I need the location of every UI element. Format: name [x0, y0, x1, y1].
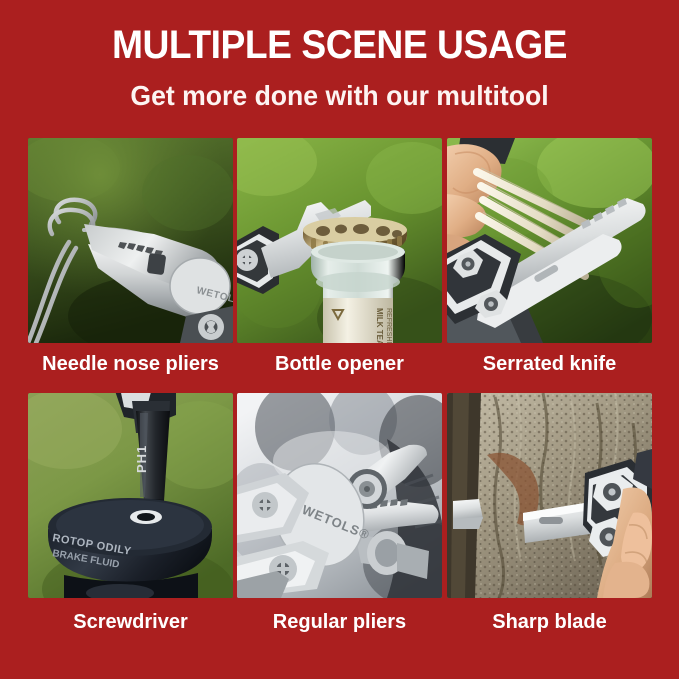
svg-text:MILK TEA: MILK TEA [375, 308, 384, 343]
feature-tile-bottle-opener: MILK TEA REFRESHING Bottle opener [237, 138, 442, 376]
tile-caption: Bottle opener [237, 352, 442, 376]
photo-bottle-opener: MILK TEA REFRESHING [237, 138, 442, 343]
photo-needle-nose-pliers: WETOLS® [28, 138, 233, 343]
feature-tile-screwdriver: PH1 ROTOP ODILY BRAKE FLUID [28, 393, 233, 634]
feature-tile-sharp-blade: Sharp blade [447, 393, 652, 634]
tile-caption: Screwdriver [28, 610, 233, 634]
tile-caption: Regular pliers [237, 610, 442, 634]
page-subtitle: Get more done with our multitool [17, 80, 662, 112]
photo-sharp-blade [447, 393, 652, 598]
feature-tile-needle-nose-pliers: WETOLS® Needle nose pliers [28, 138, 233, 376]
tile-caption: Sharp blade [447, 610, 652, 634]
tile-caption: Serrated knife [447, 352, 652, 376]
header: MULTIPLE SCENE USAGE Get more done with … [0, 0, 679, 132]
tile-caption: Needle nose pliers [28, 352, 233, 376]
feature-grid: WETOLS® Needle nose pliers [28, 138, 652, 654]
photo-serrated-knife [447, 138, 652, 343]
photo-regular-pliers: WETOLS® [237, 393, 442, 598]
page-title: MULTIPLE SCENE USAGE [24, 24, 655, 66]
svg-text:PH1: PH1 [134, 445, 149, 473]
svg-text:REFRESHING: REFRESHING [385, 308, 392, 343]
photo-screwdriver: PH1 ROTOP ODILY BRAKE FLUID [28, 393, 233, 598]
feature-tile-regular-pliers: WETOLS® Reg [237, 393, 442, 634]
infographic-root: MULTIPLE SCENE USAGE Get more done with … [0, 0, 679, 679]
feature-tile-serrated-knife: Serrated knife [447, 138, 652, 376]
